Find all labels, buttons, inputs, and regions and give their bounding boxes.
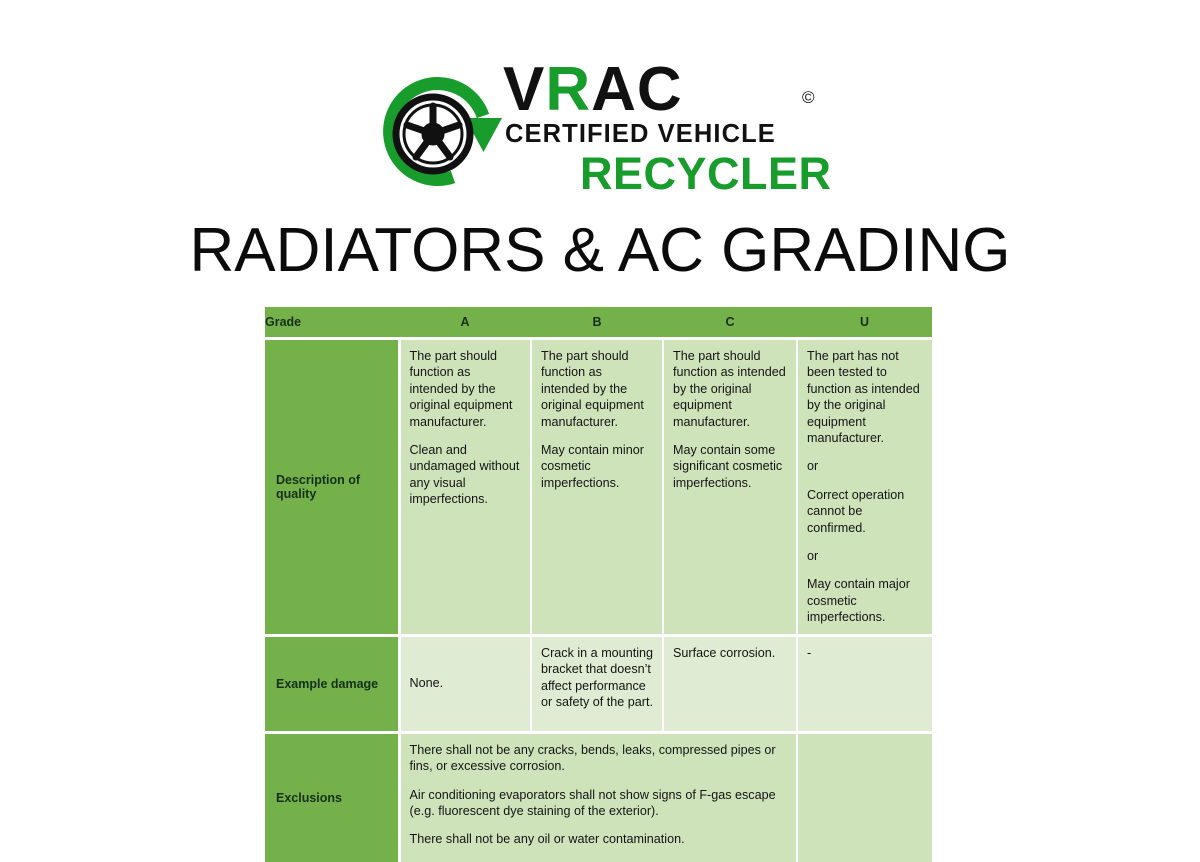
cell-exclusions-p2: Air conditioning evaporators shall not s…: [410, 787, 788, 820]
cell-description-a-p2: Clean and undamaged without any visual i…: [410, 442, 522, 508]
page-title: RADIATORS & AC GRADING: [0, 215, 1200, 286]
cell-example-a: None.: [399, 635, 531, 732]
cell-description-u-p2: or: [807, 458, 923, 474]
row-label-description: Description of quality: [265, 339, 399, 636]
cell-description-b-p1: The part should function as intended by …: [541, 348, 653, 430]
cell-exclusions-u: [797, 732, 932, 862]
cell-example-c: Surface corrosion.: [663, 635, 797, 732]
cell-description-c-p2: May contain some significant cosmetic im…: [673, 442, 787, 491]
cell-description-a-p1: The part should function as intended by …: [410, 348, 522, 430]
table-row-description: Description of quality The part should f…: [265, 339, 932, 636]
cell-description-u-p4: or: [807, 548, 923, 564]
vrac-logo: VRAC © CERTIFIED VEHICLE RECYCLER: [375, 58, 835, 203]
logo-wordmark: VRAC © CERTIFIED VEHICLE RECYCLER: [503, 58, 835, 203]
header-grade-b: B: [531, 307, 663, 339]
table-header-row: Grade A B C U: [265, 307, 932, 339]
page-root: VRAC © CERTIFIED VEHICLE RECYCLER RADIAT…: [0, 0, 1200, 800]
cell-description-u: The part has not been tested to function…: [797, 339, 932, 636]
cell-description-u-p5: May contain major cosmetic imperfections…: [807, 576, 923, 625]
cell-description-a: The part should function as intended by …: [399, 339, 531, 636]
cell-description-c: The part should function as intended by …: [663, 339, 797, 636]
header-grade-c: C: [663, 307, 797, 339]
cell-example-c-p1: Surface corrosion.: [673, 645, 787, 661]
header-grade-a: A: [399, 307, 531, 339]
cell-example-u: -: [797, 635, 932, 732]
recycle-arrow-wheel-icon: [375, 74, 505, 192]
logo-recycler: RECYCLER: [580, 148, 832, 200]
logo-letters-ac: AC: [591, 55, 683, 124]
header-grade-u: U: [797, 307, 932, 339]
logo-vrac-line: VRAC ©: [503, 58, 683, 122]
cell-exclusions-p1: There shall not be any cracks, bends, le…: [410, 742, 788, 775]
table-row-exclusions: Exclusions There shall not be any cracks…: [265, 732, 932, 862]
cell-example-a-p1: None.: [410, 675, 522, 691]
table-row-example-damage: Example damage None. Crack in a mounting…: [265, 635, 932, 732]
cell-description-b: The part should function as intended by …: [531, 339, 663, 636]
row-label-exclusions: Exclusions: [265, 732, 399, 862]
cell-exclusions-p3: There shall not be any oil or water cont…: [410, 831, 788, 847]
cell-exclusions-merged: There shall not be any cracks, bends, le…: [399, 732, 797, 862]
cell-example-b-p1: Crack in a mounting bracket that doesn’t…: [541, 645, 653, 711]
logo-letter-r: R: [545, 55, 591, 124]
copyright-icon: ©: [802, 66, 816, 130]
header-grade-label: Grade: [265, 307, 399, 339]
cell-description-u-p3: Correct operation cannot be confirmed.: [807, 487, 923, 536]
logo-letter-v: V: [503, 55, 545, 124]
cell-example-b: Crack in a mounting bracket that doesn’t…: [531, 635, 663, 732]
cell-example-u-p1: -: [807, 645, 923, 661]
logo-tagline: CERTIFIED VEHICLE: [505, 120, 776, 149]
cell-description-u-p1: The part has not been tested to function…: [807, 348, 923, 446]
cell-description-b-p2: May contain minor cosmetic imperfections…: [541, 442, 653, 491]
row-label-example-damage: Example damage: [265, 635, 399, 732]
cell-description-c-p1: The part should function as intended by …: [673, 348, 787, 430]
grading-table: Grade A B C U Description of quality The…: [265, 307, 932, 862]
